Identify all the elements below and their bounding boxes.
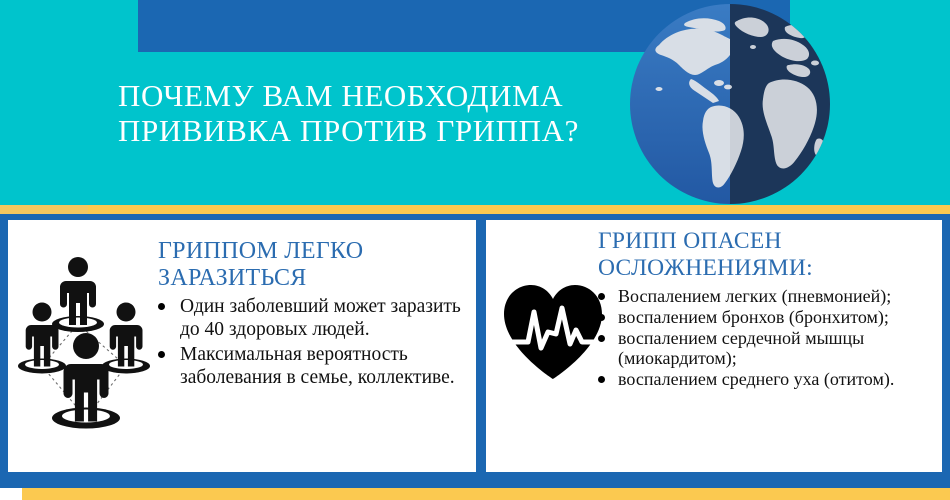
person-figure: [102, 303, 150, 374]
person-figure: [52, 333, 120, 429]
bullet-dot-icon: [598, 335, 605, 342]
bullet-dot-icon: [158, 351, 165, 358]
list-item-text: Максимальная вероятность заболевания в с…: [180, 344, 455, 388]
panel-flu-complications: ГРИПП ОПАСЕН ОСЛОЖНЕНИЯМИ: Воспалением л…: [486, 220, 942, 472]
list-item: воспалением бронхов (бронхитом);: [598, 307, 936, 327]
right-panel-heading-line-1: ГРИПП ОПАСЕН: [598, 228, 936, 255]
list-item: Один заболевший может заразить до 40 здо…: [158, 295, 470, 341]
header-band: ПОЧЕМУ ВАМ НЕОБХОДИМА ПРИВИВКА ПРОТИВ ГР…: [0, 0, 950, 205]
left-panel-content: ГРИППОМ ЛЕГКО ЗАРАЗИТЬСЯ Один заболевший…: [158, 238, 470, 391]
page-title-line-1: ПОЧЕМУ ВАМ НЕОБХОДИМА: [118, 78, 678, 113]
person-figure: [18, 303, 66, 374]
heart-pulse-icon: [500, 282, 606, 382]
list-item-text: воспалением сердечной мышцы (миокардитом…: [618, 328, 864, 368]
page-title-line-2: ПРИВИВКА ПРОТИВ ГРИППА?: [118, 113, 678, 148]
people-group-icon: [16, 254, 156, 444]
list-item: Максимальная вероятность заболевания в с…: [158, 343, 470, 389]
right-panel-bullet-list: Воспалением легких (пневмонией); воспале…: [598, 286, 936, 389]
left-panel-bullet-list: Один заболевший может заразить до 40 здо…: [158, 295, 470, 389]
bullet-dot-icon: [158, 303, 165, 310]
list-item: воспалением среднего уха (отитом).: [598, 369, 936, 389]
left-panel-heading: ГРИППОМ ЛЕГКО ЗАРАЗИТЬСЯ: [158, 238, 470, 292]
left-panel-heading-line-2: ЗАРАЗИТЬСЯ: [158, 265, 470, 292]
right-panel-heading-line-2: ОСЛОЖНЕНИЯМИ:: [598, 255, 936, 282]
bullet-dot-icon: [598, 293, 605, 300]
right-panel-heading: ГРИПП ОПАСЕН ОСЛОЖНЕНИЯМИ:: [598, 228, 936, 282]
globe-icon: [629, 3, 831, 205]
list-item: Воспалением легких (пневмонией);: [598, 286, 936, 306]
list-item-text: воспалением бронхов (бронхитом);: [618, 307, 889, 327]
panel-easy-to-catch-flu: ГРИППОМ ЛЕГКО ЗАРАЗИТЬСЯ Один заболевший…: [8, 220, 476, 472]
yellow-divider-left-segment: [0, 205, 88, 214]
list-item-text: воспалением среднего уха (отитом).: [618, 369, 894, 389]
footer-yellow-band: [0, 488, 950, 500]
list-item-text: Один заболевший может заразить до 40 здо…: [180, 296, 461, 340]
right-panel-content: ГРИПП ОПАСЕН ОСЛОЖНЕНИЯМИ: Воспалением л…: [598, 228, 936, 390]
yellow-divider-top: [0, 205, 950, 214]
panels-container: ГРИППОМ ЛЕГКО ЗАРАЗИТЬСЯ Один заболевший…: [0, 214, 950, 478]
page-title: ПОЧЕМУ ВАМ НЕОБХОДИМА ПРИВИВКА ПРОТИВ ГР…: [118, 78, 678, 148]
list-item-text: Воспалением легких (пневмонией);: [618, 286, 891, 306]
list-item: воспалением сердечной мышцы (миокардитом…: [598, 328, 936, 368]
footer-left-notch: [0, 488, 22, 500]
footer-blue-band: [0, 478, 950, 488]
bullet-dot-icon: [598, 314, 605, 321]
influenza-vaccination-infographic: ПОЧЕМУ ВАМ НЕОБХОДИМА ПРИВИВКА ПРОТИВ ГР…: [0, 0, 950, 500]
left-panel-heading-line-1: ГРИППОМ ЛЕГКО: [158, 238, 470, 265]
person-figure: [52, 257, 104, 332]
bullet-dot-icon: [598, 376, 605, 383]
